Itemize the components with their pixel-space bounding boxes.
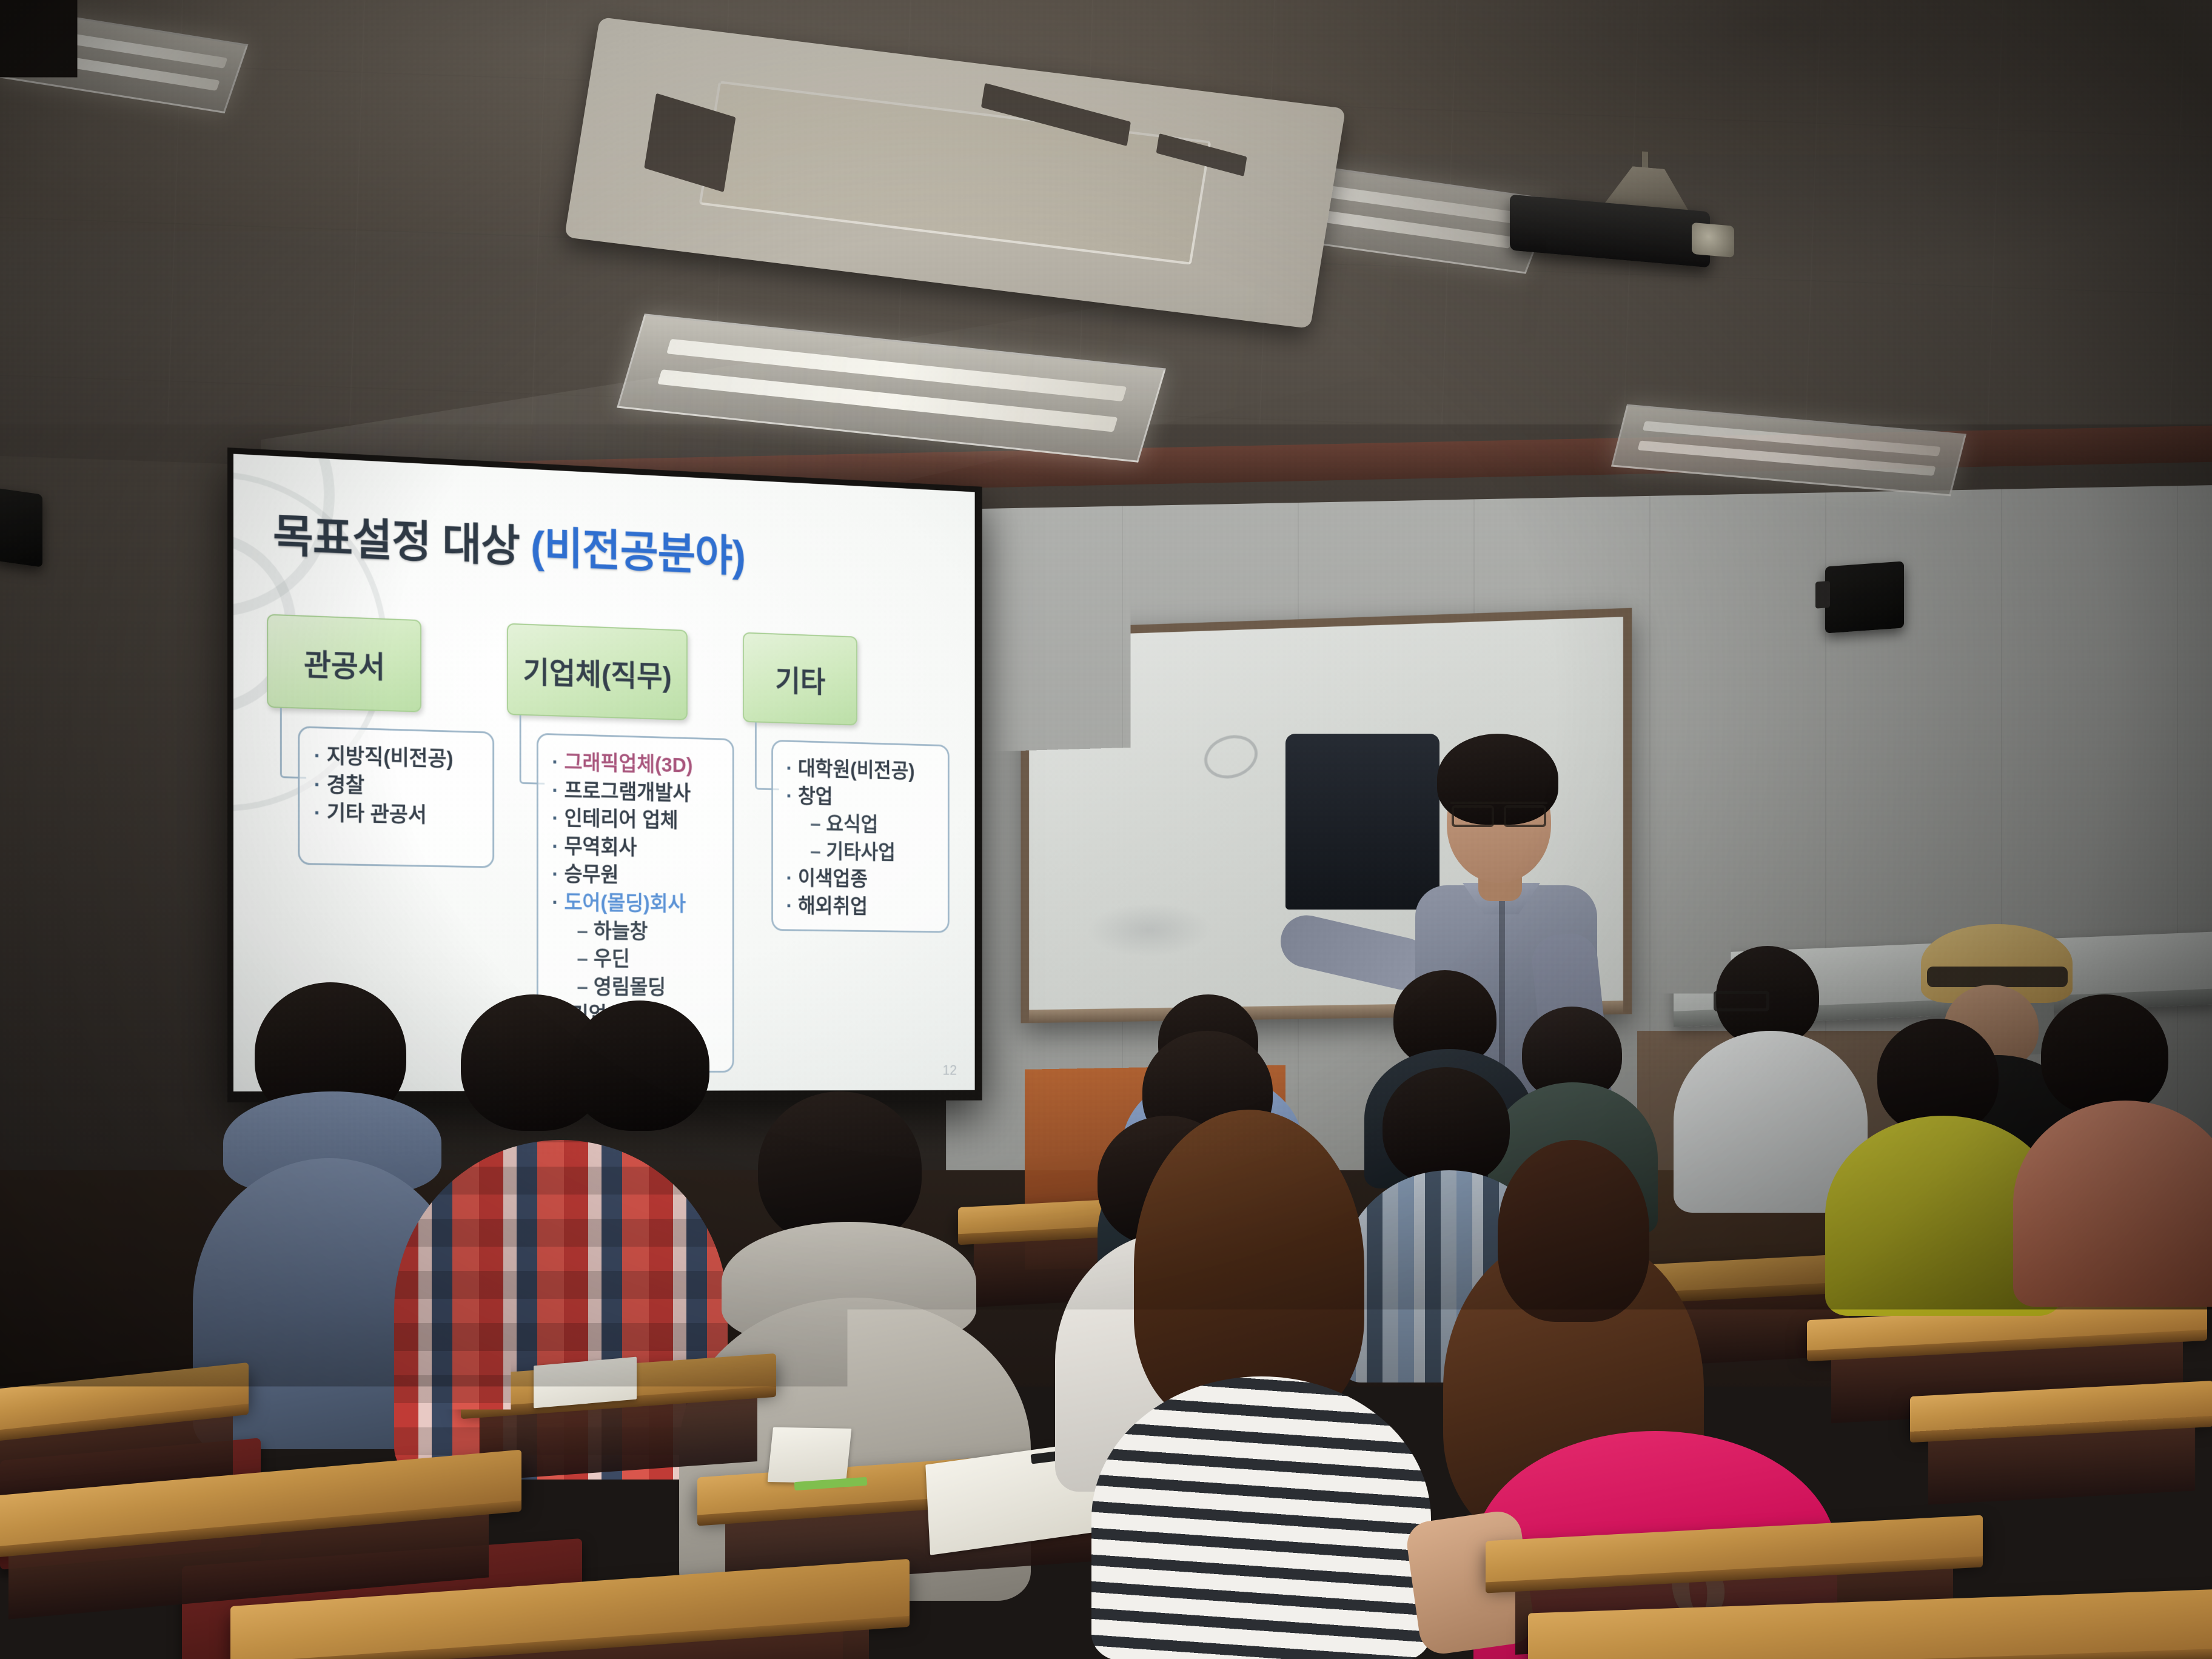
whiteboard-smudge [1199,729,1262,784]
list-item: 기타 관공서 [314,799,478,831]
head [2041,994,2168,1116]
list-item: 인테리어 업체 [552,804,718,836]
column-header-label: 관공서 [304,640,385,686]
list-item: 프로그램개발사 [552,776,718,808]
column-header-box: 기타 [743,632,857,725]
list-item: 그래픽업체(3D) [552,748,718,780]
student-salmon-top [2019,994,2212,1298]
slide-column-3: 기타 대학원(비전공) 창업 요식업 기타사업 이색업종 해외취업 [743,632,959,1073]
list-item: 이색업종 [786,865,934,894]
paper-sheet [768,1427,852,1484]
list-item: 해외취업 [786,892,934,922]
student-striped-top [1055,1110,1431,1659]
paper-sheet [534,1357,637,1409]
list-item: 기타사업 [786,837,934,868]
list-item: 우딘 [552,945,718,974]
list-item: 창업 [786,782,934,813]
glasses-icon [1714,991,1769,1011]
torso [1091,1376,1431,1659]
list-item: 요식업 [786,809,934,840]
speaker-icon [1825,561,1904,633]
list-item: 지방직(비전공) [314,742,478,774]
slide-title-accent: (비전공분야) [531,522,745,580]
column-body-box: 대학원(비전공) 창업 요식업 기타사업 이색업종 해외취업 [771,740,949,933]
slide-title-main: 목표설정 대상 [273,511,531,572]
column-header-box: 관공서 [267,614,421,712]
presenter-legs [1285,734,1439,910]
list-item: 도어(몰딩)회사 [552,888,718,919]
hair [1498,1140,1649,1322]
list-item: 대학원(비전공) [786,754,934,786]
torso [2013,1101,2212,1307]
list-item: 무역회사 [552,833,718,863]
column-header-box: 기업체(직무) [507,623,688,720]
whiteboard-smudge [1087,902,1212,958]
list-item: 하늘창 [552,917,718,947]
slide-page-number: 12 [943,1063,957,1079]
list-item: 승무원 [552,860,718,891]
hat-band [1927,967,2068,987]
list-item: 경찰 [314,770,478,802]
speaker-icon [0,488,42,567]
glasses-icon [1450,802,1547,821]
column-header-label: 기업체(직무) [523,648,672,695]
column-header-label: 기타 [776,657,826,700]
classroom-photo-scene: 목표설정 대상 (비전공분야) 관공서 지방직(비전공) 경찰 기타 관공서 [0,0,2212,1659]
student-bun-hair [1467,1140,1661,1395]
column-body-box: 지방직(비전공) 경찰 기타 관공서 [298,726,494,868]
